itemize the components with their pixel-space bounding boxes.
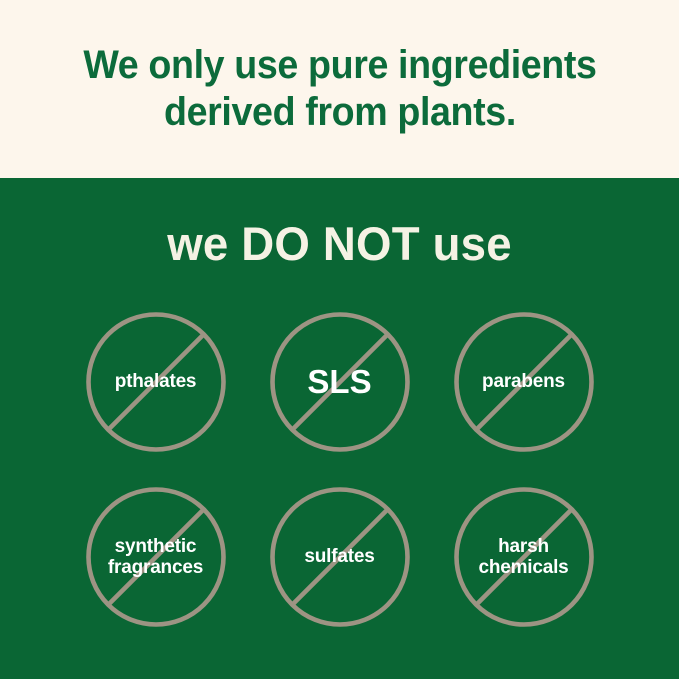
- badge-parabens: parabens: [454, 312, 594, 452]
- badge-row: synthetic fragrances sulfates harsh chem…: [0, 487, 679, 627]
- badge-label: SLS: [261, 312, 419, 452]
- badge-sulfates: sulfates: [270, 487, 410, 627]
- badge-sls: SLS: [270, 312, 410, 452]
- badge-row: pthalates SLS parabens: [0, 312, 679, 452]
- badge-label: pthalates: [77, 312, 235, 452]
- badge-pthalates: pthalates: [86, 312, 226, 452]
- section-heading: we DO NOT use: [10, 220, 669, 267]
- badge-label: harsh chemicals: [445, 487, 603, 627]
- badge-label: parabens: [445, 312, 603, 452]
- badge-harsh-chemicals: harsh chemicals: [454, 487, 594, 627]
- page-title: We only use pure ingredients derived fro…: [66, 42, 613, 136]
- prohibited-ingredients-grid: pthalates SLS parabens: [0, 296, 679, 666]
- badge-synthetic-fragrances: synthetic fragrances: [86, 487, 226, 627]
- badge-label: sulfates: [261, 487, 419, 627]
- do-not-use-panel: we DO NOT use pthalates SLS: [0, 178, 679, 679]
- badge-label: synthetic fragrances: [77, 487, 235, 627]
- headline-band: We only use pure ingredients derived fro…: [0, 0, 679, 178]
- promo-graphic: We only use pure ingredients derived fro…: [0, 0, 679, 679]
